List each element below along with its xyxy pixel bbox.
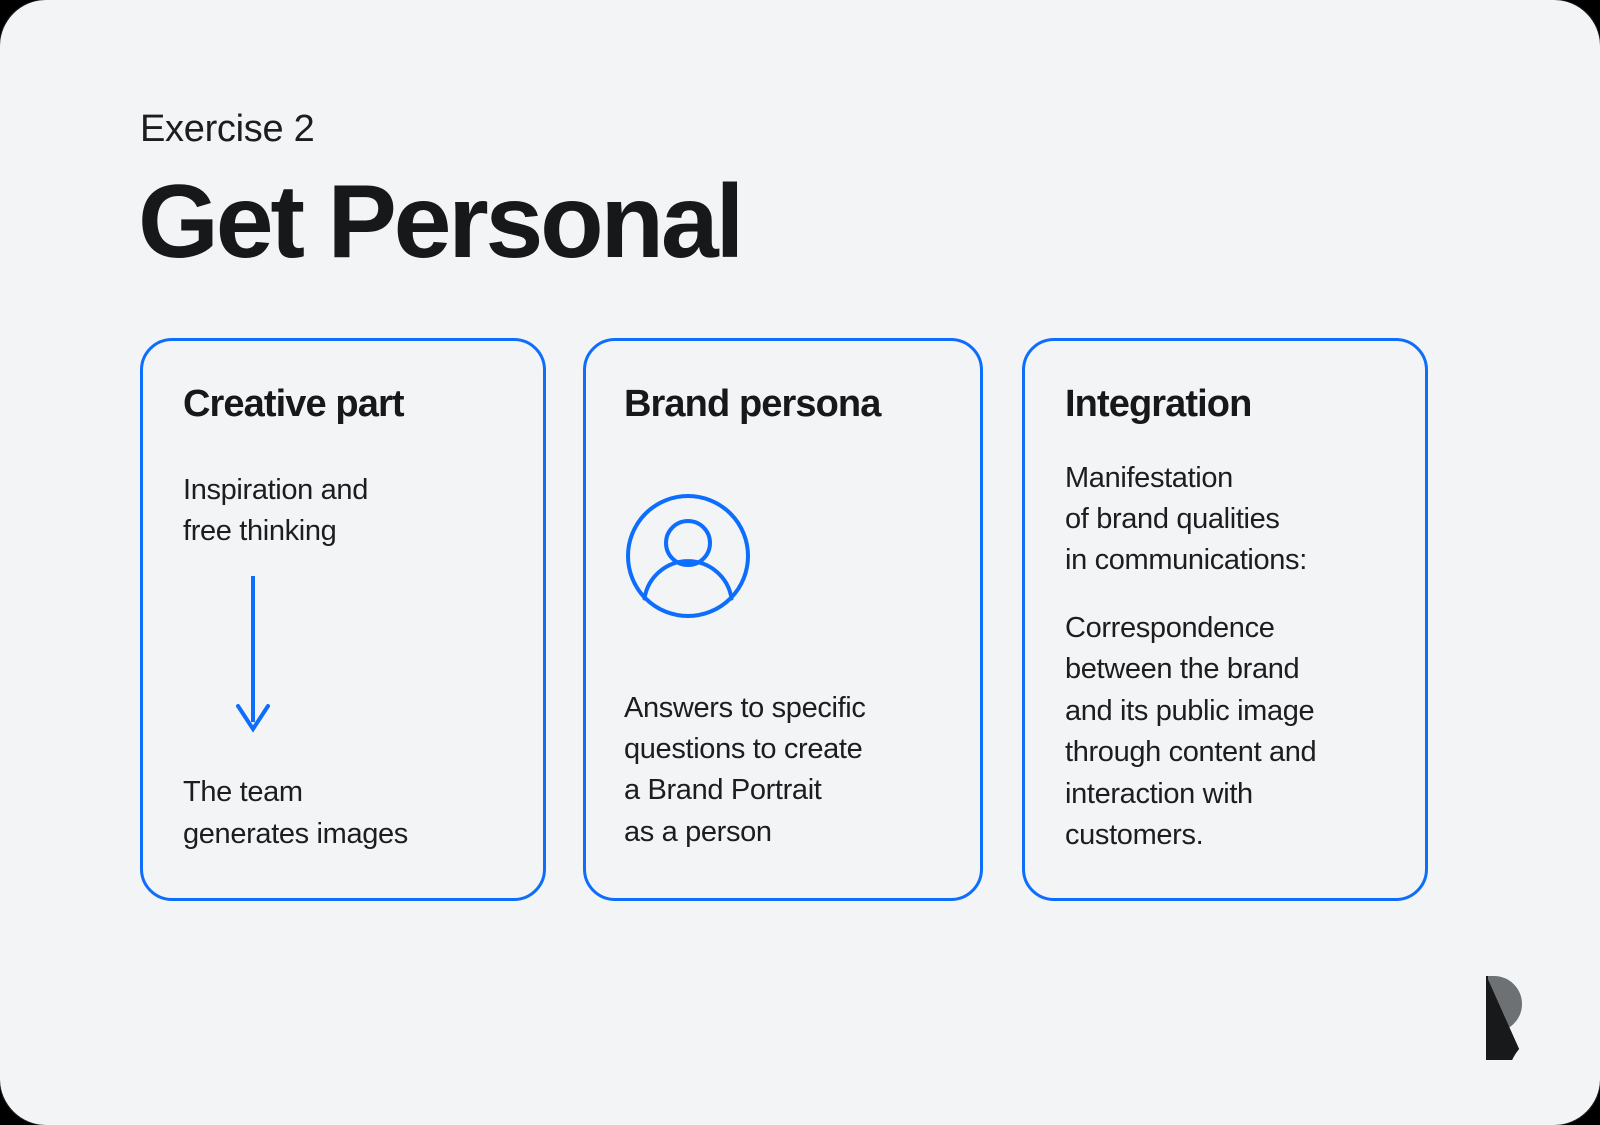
- card-creative-part: Creative part Inspiration and free think…: [140, 338, 546, 901]
- card-text-bottom: Correspondence between the brand and its…: [1065, 608, 1387, 857]
- card-content: Creative part Inspiration and free think…: [143, 341, 543, 898]
- corner-notch-bottom-right: [1554, 1079, 1600, 1125]
- card-title: Creative part: [183, 383, 505, 426]
- card-text-top: Inspiration and free thinking: [183, 470, 505, 553]
- card-content: Integration Manifestation of brand quali…: [1025, 341, 1425, 898]
- card-title: Brand persona: [624, 383, 942, 426]
- card-brand-persona: Brand persona Answers to specific questi…: [583, 338, 983, 901]
- corner-notch-top-left: [0, 0, 46, 46]
- eyebrow-label: Exercise 2: [140, 108, 314, 152]
- down-arrow-icon: [233, 574, 505, 744]
- r-monogram-logo: [1448, 974, 1524, 1060]
- slide-canvas: Exercise 2 Get Personal Creative part In…: [0, 0, 1600, 1125]
- card-text-bottom: Answers to specific questions to create …: [624, 688, 942, 854]
- card-text-top: Manifestation of brand qualities in comm…: [1065, 458, 1387, 582]
- card-title: Integration: [1065, 383, 1387, 426]
- corner-notch-bottom-left: [0, 1079, 46, 1125]
- card-integration: Integration Manifestation of brand quali…: [1022, 338, 1428, 901]
- card-content: Brand persona Answers to specific questi…: [586, 341, 980, 898]
- corner-notch-top-right: [1554, 0, 1600, 46]
- card-text-bottom: The team generates images: [183, 772, 505, 855]
- person-avatar-icon: [624, 492, 942, 620]
- page-title: Get Personal: [138, 168, 741, 277]
